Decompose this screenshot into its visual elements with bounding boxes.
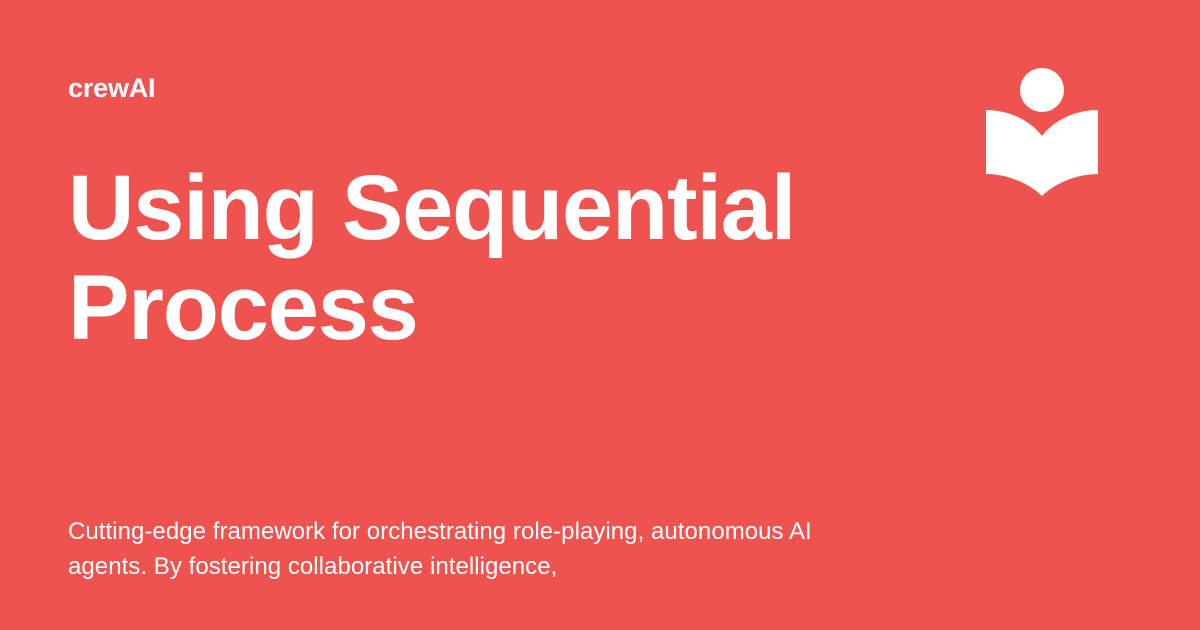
brand-logo: crewAI — [68, 70, 155, 106]
page-description: Cutting-edge framework for orchestrating… — [68, 514, 868, 584]
open-book-reader-icon — [986, 64, 1098, 196]
brand-name: crewAI — [68, 75, 155, 102]
page-title: Using Sequential Process — [68, 158, 928, 358]
og-card: crewAI Using Sequential Process Cutting-… — [0, 0, 1200, 630]
